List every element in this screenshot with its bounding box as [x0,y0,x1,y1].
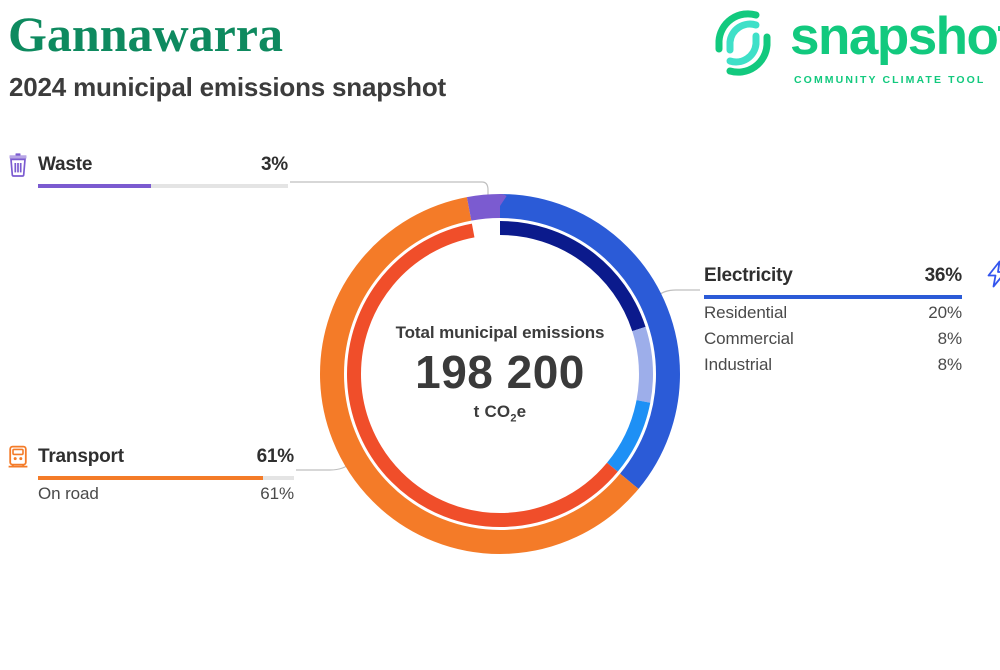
emissions-donut-chart: Total municipal emissions 198 200 t CO2e [310,184,690,564]
page-subtitle: 2024 municipal emissions snapshot [9,72,446,103]
electricity-label: Electricity [704,265,793,287]
transport-percent: 61% [257,446,294,468]
electricity-percent: 36% [925,265,962,287]
waste-progress-bar [38,184,288,188]
waste-row: Waste 3% [38,154,288,180]
on-road-label: On road [38,484,99,504]
on-road-percent: 61% [260,484,294,504]
infographic-canvas: Gannawarra 2024 municipal emissions snap… [0,0,1000,670]
transport-label: Transport [38,446,124,468]
page-title: Gannawarra [8,8,283,61]
transport-progress-bar [38,476,294,480]
commercial-label: Commercial [704,329,794,349]
snapshot-swirl-icon [706,6,780,80]
logo-wordmark: snapshot [790,10,1000,63]
industrial-percent: 8% [938,355,962,375]
residential-label: Residential [704,303,787,323]
waste-bin-icon [6,153,30,177]
residential-percent: 20% [928,303,962,323]
electricity-progress-bar [704,295,962,299]
commercial-percent: 8% [938,329,962,349]
electricity-row: Electricity 36% [704,265,962,291]
waste-label: Waste [38,154,92,176]
industrial-label: Industrial [704,355,772,375]
subitem-on-road: On road 61% [38,484,294,506]
category-panel-waste[interactable]: Waste 3% [38,154,288,188]
subitem-commercial: Commercial 8% [704,329,962,351]
subitem-residential: Residential 20% [704,303,962,325]
electricity-progress-fill [704,295,962,299]
tram-icon [6,445,30,469]
category-panel-electricity[interactable]: Electricity 36% Residential 20% Commerci… [704,265,962,377]
transport-progress-fill [38,476,263,480]
snapshot-logo: snapshot COMMUNITY CLIMATE TOOL [706,4,1000,90]
category-panel-transport[interactable]: Transport 61% On road 61% [38,446,294,506]
subitem-industrial: Industrial 8% [704,355,962,377]
waste-progress-fill [38,184,151,188]
lightning-bolt-icon [984,260,1000,288]
waste-percent: 3% [261,154,288,176]
transport-row: Transport 61% [38,446,294,472]
logo-tagline: COMMUNITY CLIMATE TOOL [794,74,985,86]
